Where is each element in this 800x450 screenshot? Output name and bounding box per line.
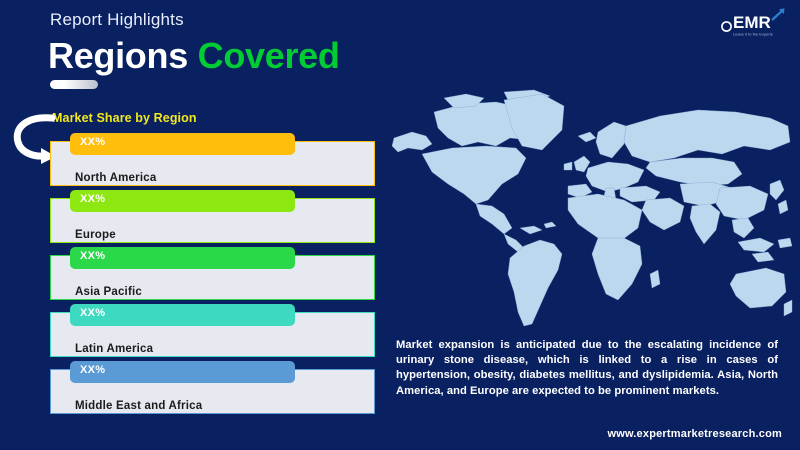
title-divider [50,80,98,89]
list-item[interactable]: Middle East and Africa XX% [50,361,380,416]
region-name: Asia Pacific [75,286,142,298]
list-item[interactable]: North America XX% [50,133,380,188]
insight-paragraph: Market expansion is anticipated due to t… [396,338,778,399]
list-item[interactable]: Asia Pacific XX% [50,247,380,302]
region-value: XX% [80,136,105,148]
region-bar: XX% [70,361,295,383]
region-name: Europe [75,229,116,241]
region-bar: XX% [70,133,295,155]
svg-text:Leave it to the Experts: Leave it to the Experts [733,32,773,37]
page-title-primary: Regions [48,35,188,76]
growth-arrow-icon [772,8,785,20]
list-item[interactable]: Europe XX% [50,190,380,245]
page-title: Regions Covered [48,38,340,74]
region-value: XX% [80,307,105,319]
region-bar: XX% [70,247,295,269]
footer-url[interactable]: www.expertmarketresearch.com [607,428,782,440]
region-name: North America [75,172,156,184]
list-item[interactable]: Latin America XX% [50,304,380,359]
page-title-accent: Covered [198,35,340,76]
region-name: Latin America [75,343,153,355]
section-label: Market Share by Region [52,111,197,125]
region-value: XX% [80,193,105,205]
svg-text:EMR: EMR [733,13,771,32]
region-list: North America XX% Europe XX% Asia Pacifi… [50,133,380,418]
region-bar: XX% [70,190,295,212]
region-value: XX% [80,250,105,262]
slide-canvas: Report Highlights Regions Covered EMR Le… [0,0,800,450]
emr-logo[interactable]: EMR Leave it to the Experts [720,6,790,38]
region-bar: XX% [70,304,295,326]
region-value: XX% [80,364,105,376]
region-name: Middle East and Africa [75,400,202,412]
report-kicker: Report Highlights [50,10,184,30]
world-map [392,88,794,330]
